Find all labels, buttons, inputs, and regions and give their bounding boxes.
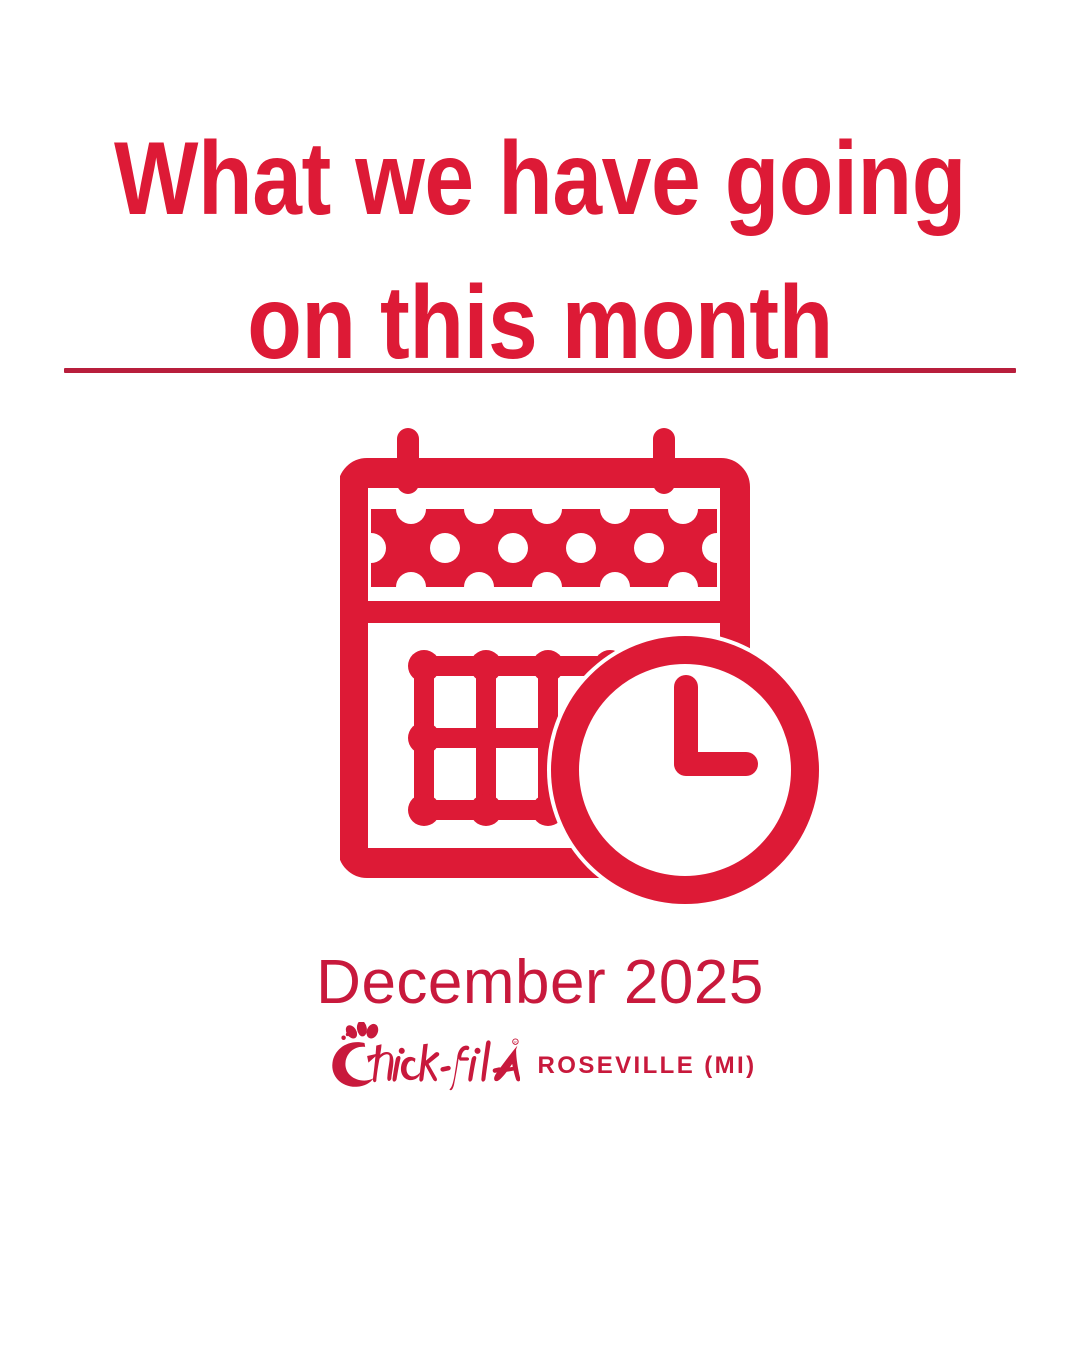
calendar-clock-icon-svg xyxy=(340,425,830,920)
brand-lockup: R ROSEVILLE (MI) xyxy=(0,1022,1080,1094)
month-label: December 2025 xyxy=(0,952,1080,1014)
clock-hand-minute xyxy=(674,752,758,776)
poster-canvas: What we have going on this month xyxy=(0,0,1080,1350)
page-title: What we have going on this month xyxy=(0,108,1080,395)
calendar-header-divider xyxy=(353,601,735,623)
store-location-label: ROSEVILLE (MI) xyxy=(538,1054,757,1094)
headline-line-2: on this month xyxy=(76,252,1005,396)
headline-line-1: What we have going xyxy=(76,108,1005,252)
divider xyxy=(64,368,1016,373)
calendar-clock-icon xyxy=(340,425,830,920)
calendar-header-band xyxy=(340,485,760,615)
chick-fil-a-logo: R xyxy=(324,1022,520,1094)
